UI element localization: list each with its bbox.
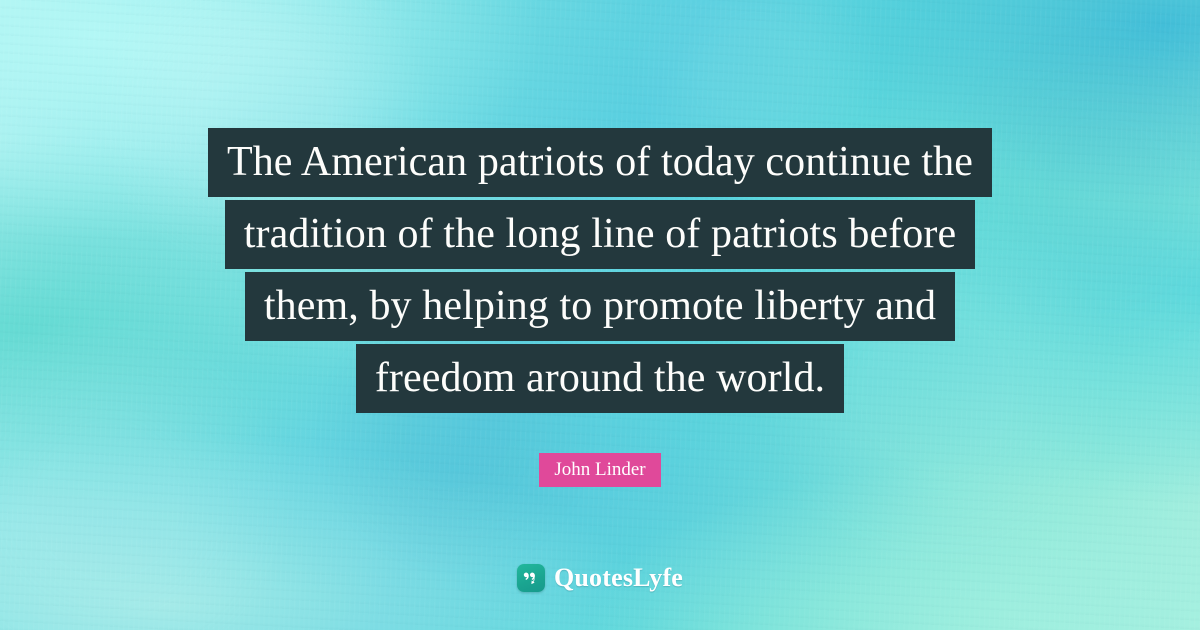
brand-logo[interactable]: QuotesLyfe xyxy=(0,564,1200,592)
brand-name: QuotesLyfe xyxy=(554,565,683,591)
quote-line-4: freedom around the world. xyxy=(356,344,844,413)
card-content: The American patriots of today continue … xyxy=(0,0,1200,630)
quote-line-3: them, by helping to promote liberty and xyxy=(245,272,955,341)
author-name: John Linder xyxy=(539,453,660,487)
author-attribution: John Linder xyxy=(0,453,1200,487)
quote-line-2: tradition of the long line of patriots b… xyxy=(225,200,975,269)
quote-card: The American patriots of today continue … xyxy=(0,0,1200,630)
quote-line-1: The American patriots of today continue … xyxy=(208,128,992,197)
quote-mark-icon xyxy=(517,564,545,592)
quote-text: The American patriots of today continue … xyxy=(0,128,1200,416)
